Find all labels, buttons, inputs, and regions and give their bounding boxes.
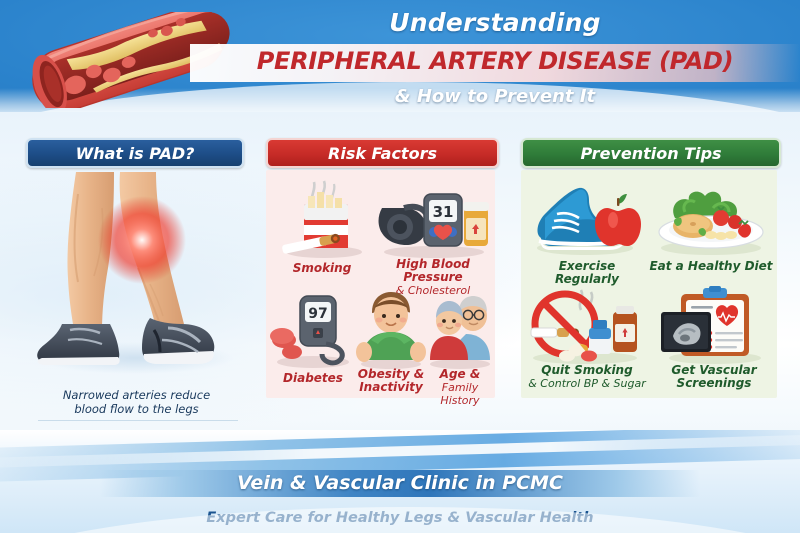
footer-banner: Vein & Vascular Clinic in PCMC Expert Ca… <box>0 430 800 533</box>
tip-label-quit-smoking-sub: & Control BP & Sugar <box>523 377 651 390</box>
panel-prevention-tips: Prevention Tips <box>513 138 785 400</box>
title-line-2: PERIPHERAL ARTERY DISEASE (PAD) <box>190 47 800 75</box>
tip-label-diet: Eat a Healthy Diet <box>649 260 773 273</box>
healthy-plate-icon <box>649 178 773 258</box>
panel-title-risk-factors: Risk Factors <box>266 138 499 168</box>
tip-label-exercise: Exercise Regularly <box>527 260 647 286</box>
risk-item-blood-pressure: 31 High Blood Pressure & Cholesterol <box>374 178 492 286</box>
left-caption-line-2: blood flow to the legs <box>74 402 198 416</box>
risk-item-diabetes: 97 Diabetes <box>270 288 356 394</box>
prevention-tips-body: Exercise Regularly <box>521 170 777 398</box>
risk-label-age-family-main: Age & <box>440 367 481 381</box>
panel-risk-factors: Risk Factors <box>258 138 503 400</box>
tip-item-quit-smoking: Quit Smoking & Control BP & Sugar <box>523 286 651 394</box>
tip-item-screenings: Get Vascular Screenings <box>655 286 773 394</box>
panel-title-prevention-tips: Prevention Tips <box>521 138 781 168</box>
tip-label-screenings: Get Vascular Screenings <box>655 364 773 390</box>
ultrasound-clipboard-icon <box>655 286 773 366</box>
risk-label-obesity-sub: Inactivity <box>354 381 428 394</box>
bp-reading-text: 31 <box>433 203 454 221</box>
risk-label-obesity: Obesity & Inactivity <box>354 368 428 394</box>
risk-item-age-family: Age & Family History <box>426 288 494 394</box>
left-caption-line-1: Narrowed arteries reduce <box>63 388 210 402</box>
left-caption: Narrowed arteries reduce blood flow to t… <box>34 388 239 416</box>
tip-label-screenings-main: Get Vascular <box>671 363 756 377</box>
elderly-couple-icon <box>426 288 494 370</box>
glucose-reading-text: 97 <box>308 306 327 322</box>
glucose-meter-icon: 97 <box>270 288 356 370</box>
tip-label-quit-smoking-main: Quit Smoking <box>541 363 632 377</box>
header-banner: Understanding PERIPHERAL ARTERY DISEASE … <box>0 0 800 118</box>
clinic-name: Vein & Vascular Clinic in PCMC <box>0 472 800 494</box>
cigarette-pack-icon <box>272 178 372 260</box>
risk-label-smoking: Smoking <box>272 262 372 275</box>
sneaker-and-apple-icon <box>527 178 647 258</box>
risk-label-age-family: Age & Family History <box>426 368 494 407</box>
legs-with-pain-highlight-icon <box>18 172 248 387</box>
risk-label-obesity-main: Obesity & <box>358 367 424 381</box>
panel-title-what-is-pad: What is PAD? <box>26 138 244 168</box>
no-smoking-and-medicine-icon <box>523 286 651 366</box>
title-line-3: & How to Prevent It <box>190 86 800 107</box>
left-divider <box>38 420 238 421</box>
panel-what-is-pad: What is PAD? <box>18 138 248 428</box>
risk-label-blood-pressure-main: High Blood Pressure <box>396 257 470 284</box>
risk-item-obesity: Obesity & Inactivity <box>354 288 428 394</box>
overweight-person-icon <box>354 288 428 370</box>
tip-label-quit-smoking: Quit Smoking & Control BP & Sugar <box>523 364 651 390</box>
risk-label-age-family-sub: Family History <box>426 381 494 407</box>
risk-item-smoking: Smoking <box>272 178 372 286</box>
tip-item-exercise: Exercise Regularly <box>527 178 647 282</box>
tip-item-diet: Eat a Healthy Diet <box>649 178 773 282</box>
risk-label-diabetes: Diabetes <box>270 372 356 385</box>
tip-label-screenings-sub: Screenings <box>655 377 773 390</box>
title-block: Understanding PERIPHERAL ARTERY DISEASE … <box>190 6 800 112</box>
title-line-1: Understanding <box>190 8 800 37</box>
blood-pressure-monitor-icon: 31 <box>374 178 492 260</box>
risk-factors-body: Smoking 31 <box>266 170 495 398</box>
infographic-root: Understanding PERIPHERAL ARTERY DISEASE … <box>0 0 800 533</box>
